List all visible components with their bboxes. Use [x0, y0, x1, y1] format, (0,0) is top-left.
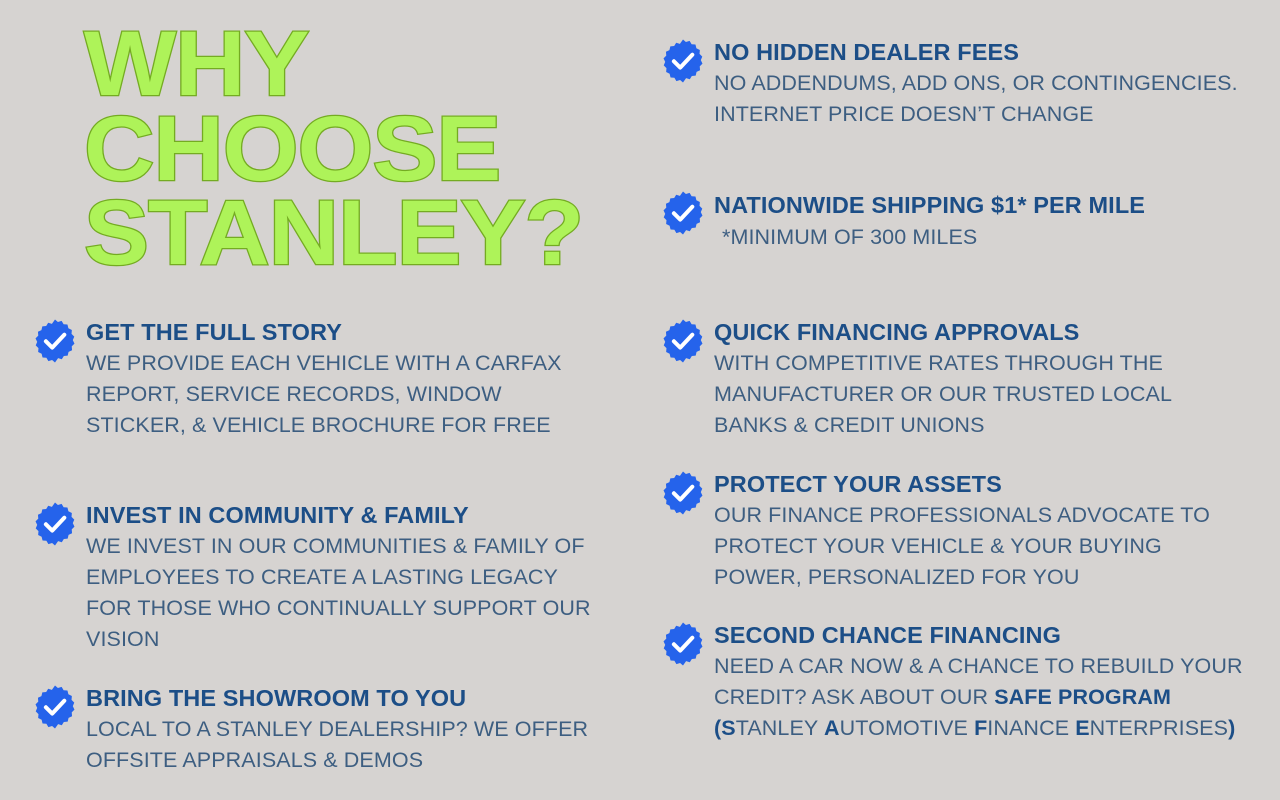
feature-body: NEED A CAR NOW & A CHANCE TO REBUILD YOU…	[714, 651, 1250, 744]
headline-line-2: CHOOSE	[84, 107, 635, 192]
feature-title: PROTECT YOUR ASSETS	[714, 470, 1250, 499]
feature-title: NATIONWIDE SHIPPING $1* PER MILE	[714, 190, 1250, 221]
headline-line-1: WHY	[84, 22, 635, 107]
verified-check-badge-icon	[660, 318, 706, 364]
feature-body: WITH COMPETITIVE RATES THROUGH THE MANUF…	[714, 348, 1250, 441]
why-choose-stanley-poster: WHY CHOOSE STANLEY? GET THE FULL STORY W…	[0, 0, 1280, 800]
verified-check-badge-icon	[32, 684, 78, 730]
feature-item-bring-the-showroom-to-you: BRING THE SHOWROOM TO YOU LOCAL TO A STA…	[32, 684, 602, 776]
verified-check-badge-icon	[660, 621, 706, 667]
verified-check-badge-icon	[660, 190, 706, 236]
feature-title: INVEST IN COMMUNITY & FAMILY	[86, 501, 602, 530]
verified-check-badge-icon	[32, 501, 78, 547]
feature-body: WE PROVIDE EACH VEHICLE WITH A CARFAX RE…	[86, 348, 602, 441]
feature-item-second-chance-financing: SECOND CHANCE FINANCING NEED A CAR NOW &…	[660, 621, 1250, 744]
verified-check-badge-icon	[660, 470, 706, 516]
verified-check-badge-icon	[32, 318, 78, 364]
page-title: WHY CHOOSE STANLEY?	[84, 22, 604, 276]
headline-line-3: STANLEY?	[84, 191, 635, 276]
feature-item-nationwide-shipping: NATIONWIDE SHIPPING $1* PER MILE *MINIMU…	[660, 190, 1250, 253]
feature-title: BRING THE SHOWROOM TO YOU	[86, 684, 602, 713]
feature-body: LOCAL TO A STANLEY DEALERSHIP? WE OFFER …	[86, 714, 602, 776]
feature-item-no-hidden-dealer-fees: NO HIDDEN DEALER FEES NO ADDENDUMS, ADD …	[660, 38, 1250, 130]
feature-item-invest-in-community-and-family: INVEST IN COMMUNITY & FAMILY WE INVEST I…	[32, 501, 602, 654]
feature-title: GET THE FULL STORY	[86, 318, 602, 347]
feature-title: NO HIDDEN DEALER FEES	[714, 38, 1250, 67]
feature-item-protect-your-assets: PROTECT YOUR ASSETS OUR FINANCE PROFESSI…	[660, 470, 1250, 593]
feature-body: *MINIMUM OF 300 MILES	[714, 222, 1250, 253]
feature-body: NO ADDENDUMS, ADD ONS, OR CONTINGENCIES.…	[714, 68, 1250, 130]
feature-body: WE INVEST IN OUR COMMUNITIES & FAMILY OF…	[86, 531, 602, 655]
feature-title: QUICK FINANCING APPROVALS	[714, 318, 1250, 347]
verified-check-badge-icon	[660, 38, 706, 84]
feature-title: SECOND CHANCE FINANCING	[714, 621, 1250, 650]
feature-body: OUR FINANCE PROFESSIONALS ADVOCATE TO PR…	[714, 500, 1250, 593]
feature-item-get-the-full-story: GET THE FULL STORY WE PROVIDE EACH VEHIC…	[32, 318, 602, 441]
feature-item-quick-financing-approvals: QUICK FINANCING APPROVALS WITH COMPETITI…	[660, 318, 1250, 441]
